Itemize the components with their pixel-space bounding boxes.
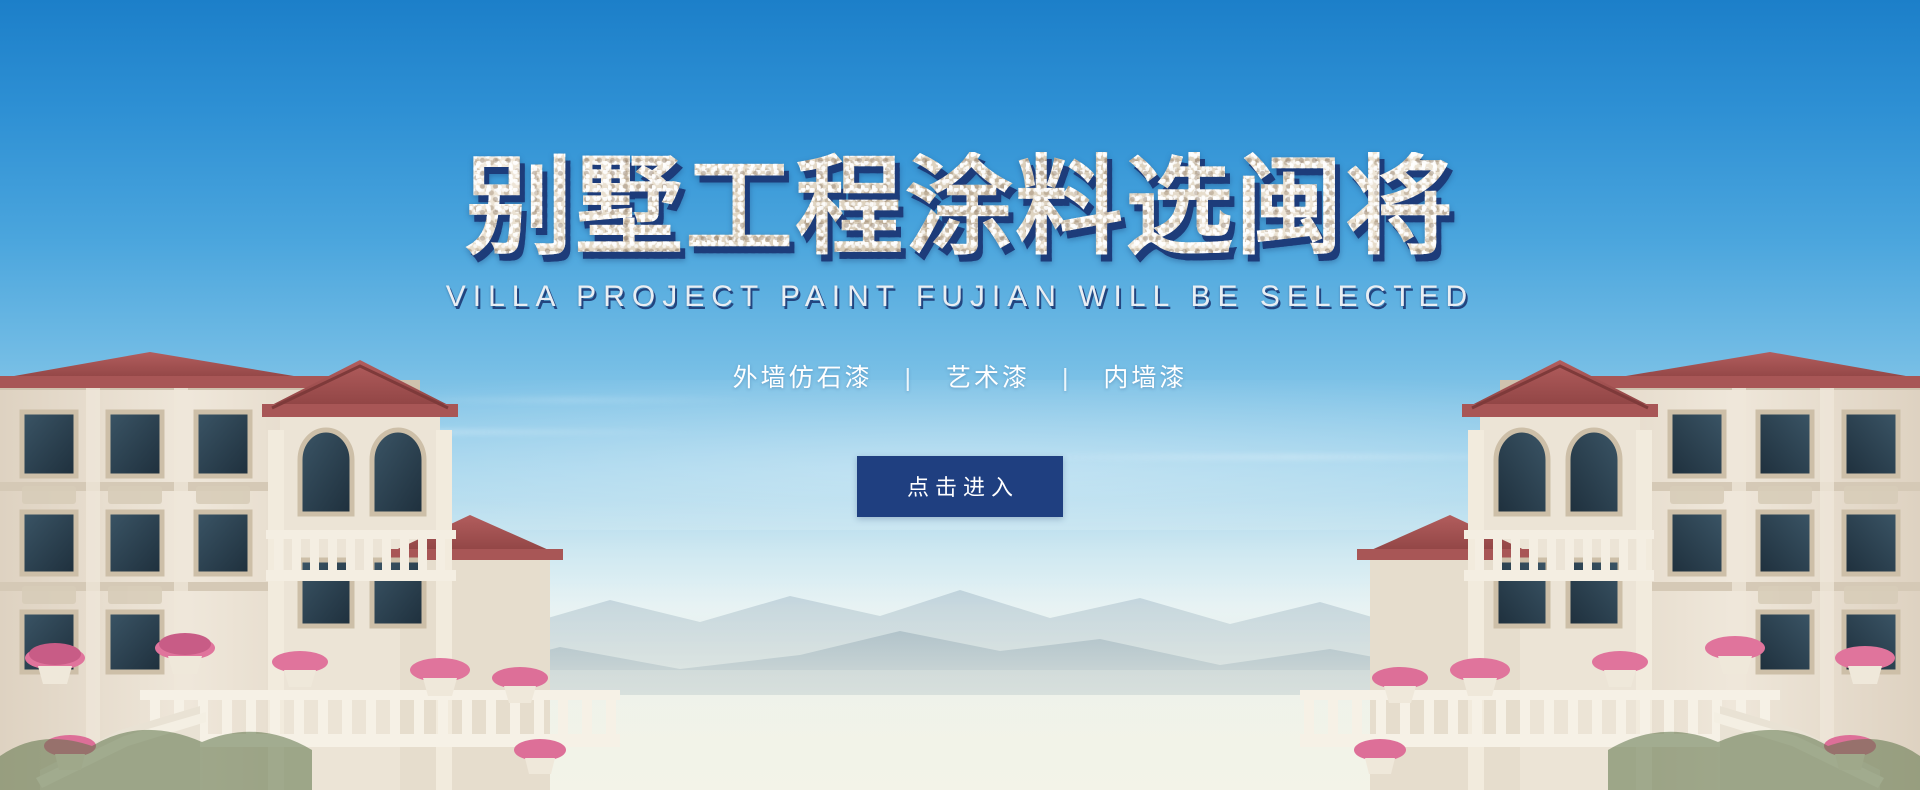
product-separator: | [1062,364,1072,393]
product-item-interior-paint[interactable]: 内墙漆 [1103,358,1187,394]
flower-planters [25,633,566,774]
product-item-art-paint[interactable]: 艺术漆 [946,358,1030,394]
enter-site-button[interactable]: 点击进入 [857,456,1063,517]
valley-fog [0,580,1920,790]
page-title: 别墅工程涂料选闽将 [465,152,1455,262]
product-item-exterior-stone-paint[interactable]: 外墙仿石漆 [733,358,873,394]
product-separator: | [905,364,915,393]
mountain-range-far [0,560,1920,670]
product-list: 外墙仿石漆 | 艺术漆 | 内墙漆 [0,358,1920,394]
subtitle-english: VILLA PROJECT PAINT FUJIAN WILL BE SELEC… [0,280,1920,314]
cta-container: 点击进入 [0,456,1920,517]
banner-content: 别墅工程涂料选闽将 VILLA PROJECT PAINT FUJIAN WIL… [0,0,1920,517]
hero-banner: 别墅工程涂料选闽将 VILLA PROJECT PAINT FUJIAN WIL… [0,0,1920,790]
mountain-range-near [0,605,1920,695]
sky-haze-lower [0,500,1920,680]
